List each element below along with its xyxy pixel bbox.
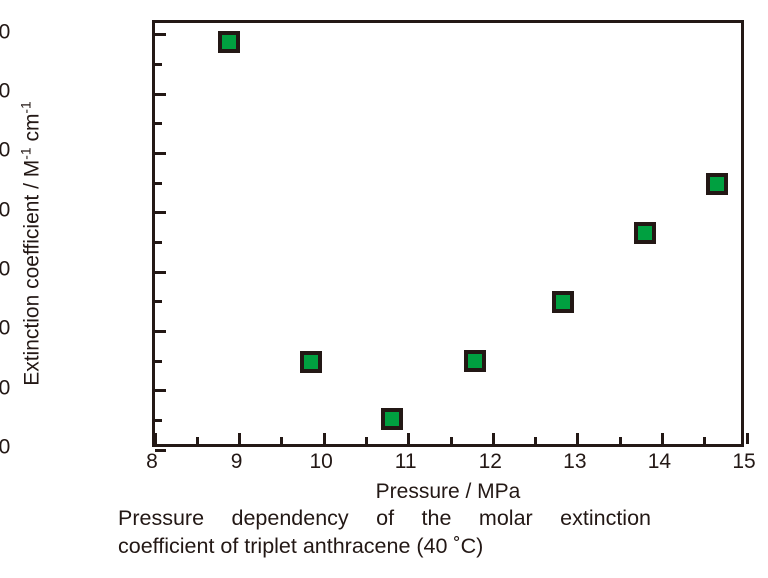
- x-tick-major: [492, 433, 495, 444]
- y-tick-major: [155, 271, 166, 274]
- y-tick-label: 30000: [0, 318, 10, 339]
- x-tick-label: 13: [563, 451, 586, 472]
- x-tick-minor: [450, 437, 453, 444]
- y-tick-label: 25000: [0, 377, 10, 398]
- y-tick-label: 20000: [0, 437, 10, 458]
- y-tick-label: 35000: [0, 259, 10, 280]
- caption-line-2: coefficient of triplet anthracene (40 ˚C…: [118, 533, 651, 561]
- x-tick-major: [576, 433, 579, 444]
- y-tick-minor: [155, 300, 162, 303]
- y-tick-minor: [155, 182, 162, 185]
- x-tick-major: [154, 433, 157, 444]
- data-point: [464, 350, 486, 372]
- y-tick-minor: [155, 419, 162, 422]
- y-axis-title-sup1: -1: [18, 147, 34, 159]
- y-tick-label: 45000: [0, 140, 10, 161]
- caption-line-1: Pressure dependency of the molar extinct…: [118, 505, 651, 533]
- figure-caption: Pressure dependency of the molar extinct…: [118, 505, 651, 560]
- y-tick-minor: [155, 241, 162, 244]
- x-tick-major: [323, 433, 326, 444]
- y-tick-major: [155, 152, 166, 155]
- y-tick-label: 50000: [0, 81, 10, 102]
- x-tick-label: 10: [309, 451, 332, 472]
- y-tick-major: [155, 33, 166, 36]
- y-tick-major: [155, 93, 166, 96]
- x-tick-label: 14: [648, 451, 671, 472]
- y-tick-major: [155, 330, 166, 333]
- x-tick-minor: [619, 437, 622, 444]
- x-tick-major: [238, 433, 241, 444]
- y-tick-minor: [155, 122, 162, 125]
- data-point: [381, 408, 403, 430]
- x-axis-title: Pressure / MPa: [152, 481, 744, 502]
- x-tick-label: 11: [395, 451, 417, 472]
- x-tick-label: 12: [479, 451, 502, 472]
- data-point: [300, 351, 322, 373]
- y-axis-title: Extinction coefficient / M-1 cm-1: [22, 9, 43, 479]
- x-tick-major: [407, 433, 410, 444]
- y-tick-label: 40000: [0, 199, 10, 220]
- data-point: [218, 31, 240, 53]
- y-axis-title-prefix: Extinction coefficient / M: [21, 160, 44, 386]
- y-tick-minor: [155, 63, 162, 66]
- y-axis-title-middle: cm: [21, 114, 44, 148]
- plot-area: [152, 20, 744, 447]
- data-point: [706, 173, 728, 195]
- y-tick-major: [155, 211, 166, 214]
- x-tick-minor: [280, 437, 283, 444]
- x-tick-major: [746, 433, 749, 444]
- x-tick-label: 8: [146, 451, 158, 472]
- y-axis-title-sup2: -1: [18, 101, 34, 113]
- x-tick-label: 9: [231, 451, 243, 472]
- figure-container: Extinction coefficient / M-1 cm-1 200002…: [0, 0, 768, 578]
- x-tick-major: [661, 433, 664, 444]
- x-tick-minor: [534, 437, 537, 444]
- data-point: [552, 291, 574, 313]
- y-tick-label: 55000: [0, 21, 10, 42]
- data-point: [634, 222, 656, 244]
- x-tick-minor: [196, 437, 199, 444]
- y-tick-minor: [155, 360, 162, 363]
- x-tick-minor: [703, 437, 706, 444]
- x-tick-minor: [365, 437, 368, 444]
- y-tick-major: [155, 389, 166, 392]
- x-tick-label: 15: [732, 451, 755, 472]
